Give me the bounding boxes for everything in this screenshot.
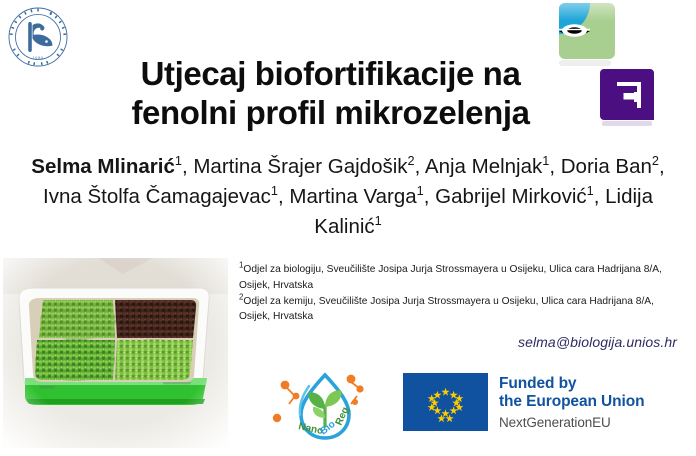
author-affiliation-marker: 1 xyxy=(417,183,424,198)
author-name: Gabrijel Mirković xyxy=(435,185,587,208)
affiliation-item: 2Odjel za kemiju, Sveučilište Josipa Jur… xyxy=(239,294,677,326)
eu-funding-text: Funded by the European Union NextGenerat… xyxy=(499,373,644,433)
affiliations-block: 1Odjel za biologiju, Sveučilište Josipa … xyxy=(239,262,677,325)
author-affiliation-marker: 1 xyxy=(375,213,382,228)
author-sep: , xyxy=(415,155,425,178)
title-line-1: Utjecaj biofortifikacije na xyxy=(141,55,521,92)
eu-flag-icon xyxy=(403,373,488,431)
department-of-chemistry-logo xyxy=(592,64,660,128)
author-sep: , xyxy=(549,155,560,178)
author-affiliation-marker: 1 xyxy=(271,183,278,198)
author-affiliation-marker: 2 xyxy=(408,153,415,168)
eu-nextgeneration-label: NextGenerationEU xyxy=(499,413,644,433)
eu-funded-line-1: Funded by xyxy=(499,375,644,393)
author-name: Anja Melnjak xyxy=(425,155,542,178)
author-lead: Selma Mlinarić xyxy=(31,155,175,178)
author-sep: , xyxy=(659,155,665,178)
title-line-2: fenolni profil mikrozelenja xyxy=(78,94,583,133)
eu-funded-line-2: the European Union xyxy=(499,393,644,411)
svg-text:1989: 1989 xyxy=(33,56,44,61)
author-name: Ivna Štolfa Čamagajevac xyxy=(43,185,271,208)
nanobioreg-logo: Nano Bio Reg xyxy=(265,366,385,450)
author-sep: , xyxy=(182,155,193,178)
author-sep: , xyxy=(424,185,435,208)
affiliation-text: Odjel za biologiju, Sveučilište Josipa J… xyxy=(239,264,662,291)
department-of-biology-logo xyxy=(556,2,622,68)
affiliation-text: Odjel za kemiju, Sveučilište Josipa Jurj… xyxy=(239,296,654,323)
microgreens-tray-photo xyxy=(3,258,228,448)
author-affiliation-marker: 2 xyxy=(652,153,659,168)
university-seal-logo: 1989 xyxy=(7,6,69,68)
author-name: Martina Varga xyxy=(289,185,416,208)
author-name: Doria Ban xyxy=(561,155,652,178)
page-title: Utjecaj biofortifikacije na fenolni prof… xyxy=(78,55,583,133)
author-sep: , xyxy=(594,185,605,208)
author-affiliation-marker: 1 xyxy=(587,183,594,198)
affiliation-item: 1Odjel za biologiju, Sveučilište Josipa … xyxy=(239,262,677,294)
author-sep: , xyxy=(278,185,289,208)
contact-email[interactable]: selma@biologija.unios.hr xyxy=(239,334,677,350)
poster-slide: 1989 Utjecaj biofortifikacije na fenolni… xyxy=(0,0,696,456)
author-list: Selma Mlinarić1, Martina Šrajer Gajdošik… xyxy=(10,152,686,242)
funded-by-eu-logo: Funded by the European Union NextGenerat… xyxy=(403,373,653,435)
author-name: Martina Šrajer Gajdošik xyxy=(193,155,407,178)
author-lead-affiliation-marker: 1 xyxy=(175,153,182,168)
